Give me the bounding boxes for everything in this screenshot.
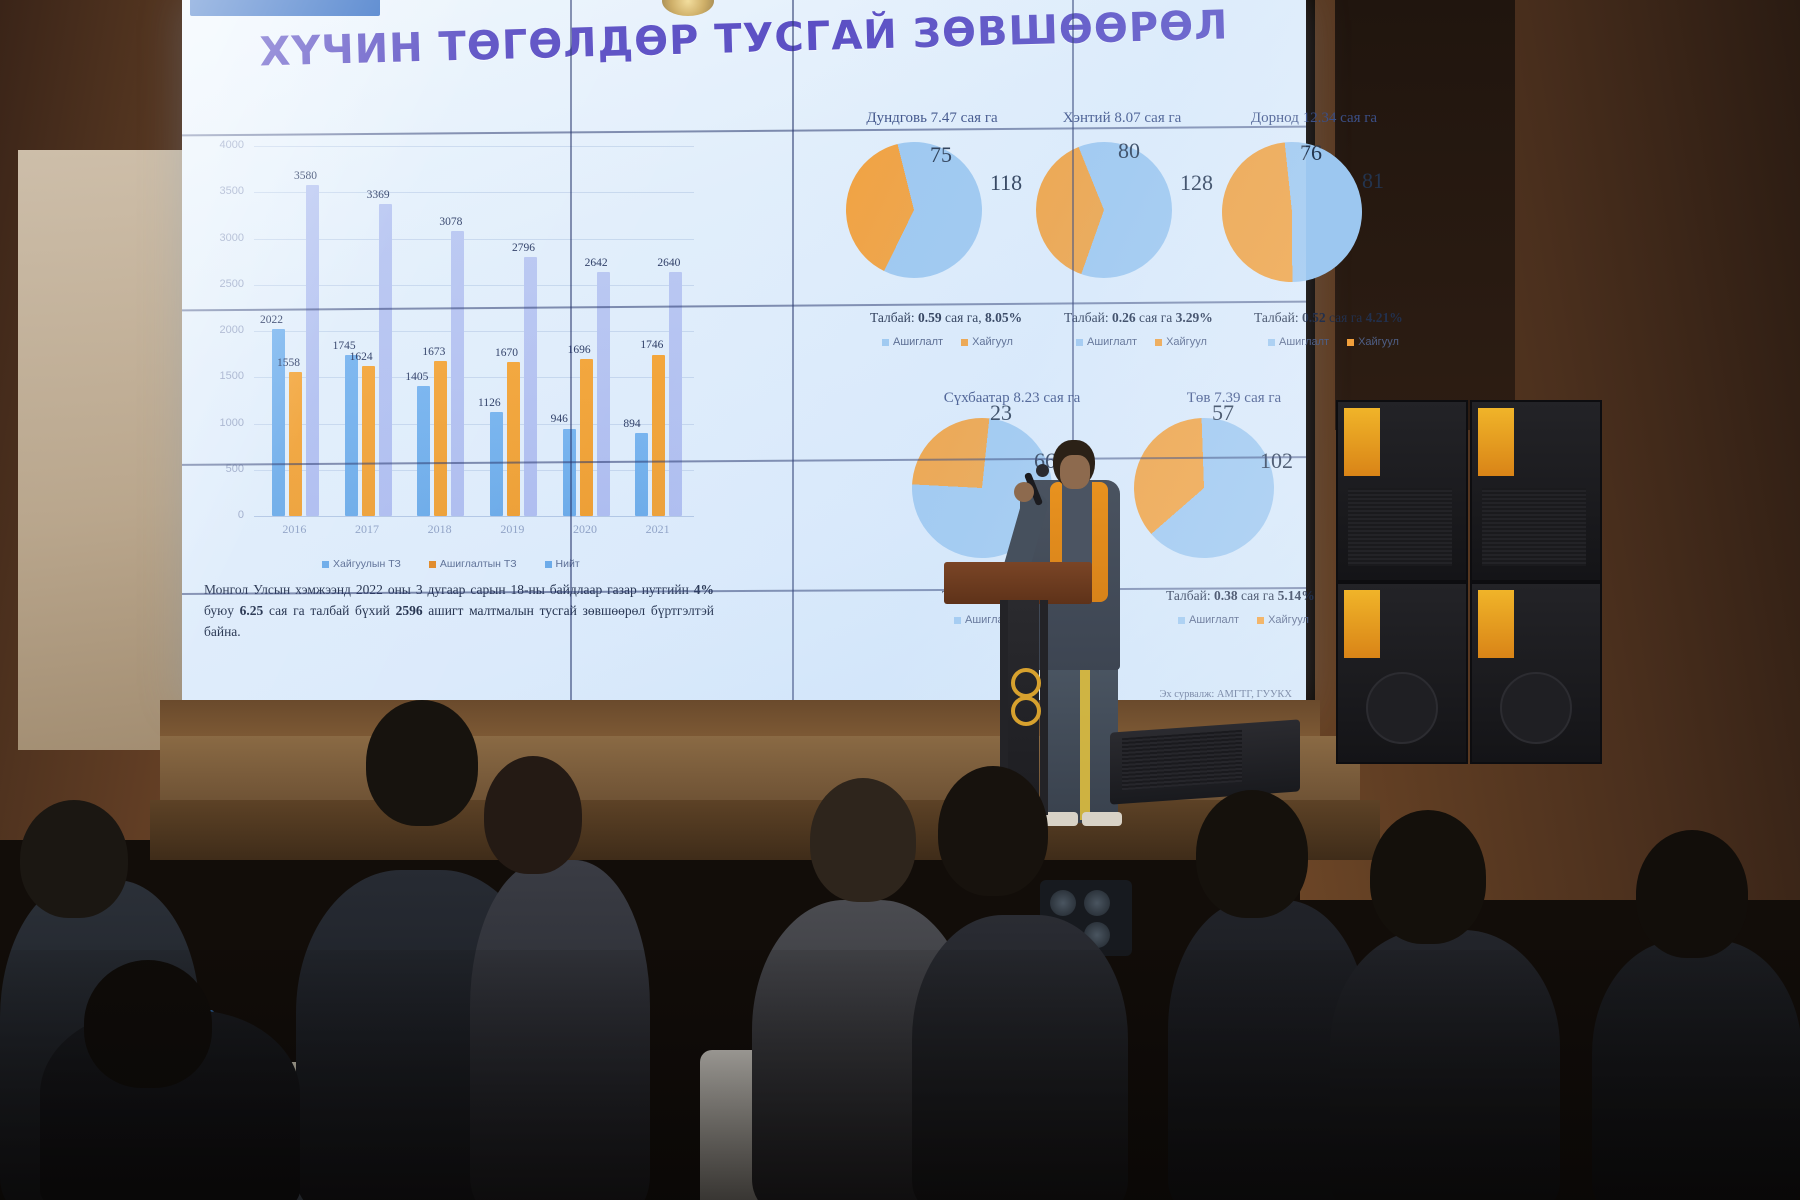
legend-label: Хайгуул [1166, 336, 1207, 348]
bar [580, 359, 593, 516]
bar-value-label: 2642 [585, 257, 608, 269]
y-axis-tick-label: 1000 [202, 417, 244, 429]
bar-value-label: 1624 [350, 351, 373, 363]
audience-head [1636, 830, 1748, 958]
legend-item[interactable]: Хайгуулын ТЗ [322, 558, 401, 570]
legend-label: Хайгуул [1358, 336, 1399, 348]
legend-item[interactable]: Хайгуул [961, 336, 1013, 348]
bar [362, 366, 375, 516]
y-axis-tick-label: 4000 [202, 139, 244, 151]
podium-ring-decor [1011, 696, 1041, 726]
y-axis-tick-label: 0 [202, 509, 244, 521]
bar [524, 257, 537, 516]
pa-speaker-driver [1366, 672, 1438, 744]
bar [507, 362, 520, 516]
bar [451, 231, 464, 516]
y-axis-tick-label: 2000 [202, 324, 244, 336]
x-axis-tick-label: 2020 [550, 522, 620, 537]
podium-leg [1040, 600, 1048, 815]
bar-value-label: 946 [551, 413, 568, 425]
legend-swatch-icon [882, 339, 889, 346]
pie-chart [1132, 416, 1277, 561]
note-part-1: Монгол Улсын хэмжээнд 2022 оны 3 дугаар … [204, 582, 694, 597]
pie-chart-title: Хэнтий 8.07 сая га [1022, 110, 1222, 127]
audience-head [366, 700, 478, 826]
bar-value-label: 3369 [367, 189, 390, 201]
pa-speaker-grille [1482, 488, 1586, 566]
bar-value-label: 1746 [640, 339, 663, 351]
y-axis-tick-label: 1500 [202, 370, 244, 382]
bar-value-label: 2796 [512, 242, 535, 254]
legend-label: Нийт [556, 558, 580, 570]
x-axis-tick-label: 2019 [477, 522, 547, 537]
pie-chart-legend: АшиглалтХайгуул [1076, 336, 1207, 348]
legend-swatch-icon [429, 561, 436, 568]
legend-label: Ашиглалт [1189, 614, 1239, 626]
bar-chart: 05001000150020002500300035004000 2022155… [202, 130, 702, 650]
x-axis-tick-label: 2017 [332, 522, 402, 537]
bar [345, 355, 358, 516]
x-axis-tick-label: 2016 [259, 522, 329, 537]
x-axis-tick-label: 2021 [623, 522, 693, 537]
bar-value-label: 3078 [439, 216, 462, 228]
bar-value-label: 1126 [478, 397, 501, 409]
bar [434, 361, 447, 516]
source-note: Эх сурвалж: АМГТГ, ГУУКХ [1159, 689, 1292, 700]
audience-head [810, 778, 916, 902]
pie-slice-value-orange: 23 [990, 400, 1012, 426]
stage-light-lens [1084, 890, 1110, 916]
legend-label: Хайгуул [1268, 614, 1309, 626]
legend-label: Ашиглалт [1279, 336, 1329, 348]
pie-area-annotation: Талбай: 0.59 сая га, 8.05% [870, 310, 1022, 326]
pie-chart-legend: АшиглалтХайгуул [1268, 336, 1399, 348]
presenter-legs [1040, 655, 1118, 823]
bar [417, 386, 430, 516]
annotation-unit: сая га [1326, 310, 1366, 325]
note-part-2: буюу [204, 603, 240, 618]
legend-label: Ашиглалт [893, 336, 943, 348]
bar [289, 372, 302, 516]
pie-chart-title: Дундговь 7.47 сая га [832, 110, 1032, 127]
bar [669, 272, 682, 516]
y-axis-tick-label: 2500 [202, 278, 244, 290]
pie-slice-value-blue: 118 [990, 170, 1022, 196]
annotation-prefix: Талбай: [870, 310, 918, 325]
pie-slice-value-orange: 80 [1118, 138, 1140, 164]
pie-area-annotation: Талбай: 0.52 сая га 4.21% [1254, 310, 1403, 326]
bar-value-label: 2640 [657, 257, 680, 269]
annotation-percent-value: 8.05% [985, 310, 1022, 325]
annotation-unit: сая га [1136, 310, 1176, 325]
photo-scene: ХҮЧИН ТӨГӨЛДӨР ТУСГАЙ ЗӨВШӨӨРӨЛ 05001000… [0, 0, 1800, 1200]
pie-area-annotation: Талбай: 0.38 сая га 5.14% [1166, 588, 1315, 604]
legend-swatch-icon [322, 561, 329, 568]
legend-label: Хайгуул [972, 336, 1013, 348]
pa-speaker-label [1344, 408, 1380, 476]
legend-item[interactable]: Нийт [545, 558, 580, 570]
bar-value-label: 1745 [333, 340, 356, 352]
bar [379, 204, 392, 516]
bar-value-label: 1405 [405, 371, 428, 383]
legend-label: Хайгуулын ТЗ [333, 558, 401, 570]
bar-value-label: 2022 [260, 314, 283, 326]
audience-head [20, 800, 128, 918]
bar [597, 272, 610, 516]
podium-ring-decor [1011, 668, 1041, 698]
bar [652, 355, 665, 517]
y-axis-tick-label: 3500 [202, 185, 244, 197]
annotation-area-value: 0.26 [1112, 310, 1136, 325]
bar-chart-legend: Хайгуулын ТЗАшиглалтын ТЗНийт [322, 558, 580, 570]
annotation-percent-value: 5.14% [1278, 588, 1315, 603]
bar [490, 412, 503, 516]
pa-speaker-grille [1348, 488, 1452, 566]
pie-chart-legend: АшиглалтХайгуул [882, 336, 1013, 348]
bar-value-label: 3580 [294, 170, 317, 182]
bar [306, 185, 319, 516]
legend-label: Ашиглалт [1087, 336, 1137, 348]
legend-swatch-icon [1155, 339, 1162, 346]
x-axis-tick-label: 2018 [405, 522, 475, 537]
presenter-shoe [1082, 812, 1122, 826]
bar-chart-baseline [254, 516, 694, 517]
legend-swatch-icon [1257, 617, 1264, 624]
legend-swatch-icon [1347, 339, 1354, 346]
legend-swatch-icon [1076, 339, 1083, 346]
annotation-percent-value: 4.21% [1366, 310, 1403, 325]
summary-note: Монгол Улсын хэмжээнд 2022 оны 3 дугаар … [204, 580, 714, 643]
left-wall-panel [18, 150, 193, 750]
stage-light-lens [1050, 890, 1076, 916]
presentation-screen: ХҮЧИН ТӨГӨЛДӨР ТУСГАЙ ЗӨВШӨӨРӨЛ 05001000… [182, 0, 1306, 706]
pie-slice-value-blue: 128 [1180, 170, 1213, 196]
pa-speaker-driver [1500, 672, 1572, 744]
pie-area-annotation: Талбай: 0.26 сая га 3.29% [1064, 310, 1213, 326]
annotation-percent-value: 3.29% [1176, 310, 1213, 325]
pie-chart-title: Дорнод 12.34 сая га [1214, 110, 1414, 127]
legend-swatch-icon [1268, 339, 1275, 346]
legend-item[interactable]: Ашиглалт [882, 336, 943, 348]
note-part-3: сая га талбай бүхий [263, 603, 395, 618]
legend-item[interactable]: Ашиглалт [1076, 336, 1137, 348]
y-axis-tick-label: 3000 [202, 232, 244, 244]
legend-item[interactable]: Ашиглалт [1178, 614, 1239, 626]
note-bold-2: 6.25 [240, 603, 264, 618]
legend-label: Ашиглалтын ТЗ [440, 558, 517, 570]
legend-item[interactable]: Хайгуул [1257, 614, 1309, 626]
screen-seam [570, 0, 572, 706]
legend-swatch-icon [961, 339, 968, 346]
annotation-area-value: 0.52 [1302, 310, 1326, 325]
pa-speaker-label [1344, 590, 1380, 658]
bar-value-label: 1673 [422, 346, 445, 358]
bar-value-label: 1670 [495, 347, 518, 359]
annotation-prefix: Талбай: [1254, 310, 1302, 325]
annotation-area-value: 0.38 [1214, 588, 1238, 603]
pie-slice-value-blue: 81 [1362, 168, 1384, 194]
audience-head [1196, 790, 1308, 918]
audience-head [484, 756, 582, 874]
legend-item[interactable]: Ашиглалт [1268, 336, 1329, 348]
legend-item[interactable]: Ашиглалтын ТЗ [429, 558, 517, 570]
pa-speaker-label [1478, 590, 1514, 658]
pa-speaker-label [1478, 408, 1514, 476]
audience-head [938, 766, 1048, 896]
legend-swatch-icon [545, 561, 552, 568]
bar-group: 174516243369 [331, 146, 404, 516]
legend-item[interactable]: Хайгуул [1155, 336, 1207, 348]
bar-group: 202215583580 [258, 146, 331, 516]
stage-monitor-grille [1122, 730, 1242, 790]
slide-logo-bar [190, 0, 380, 16]
bar [635, 433, 648, 516]
pie-chart [832, 128, 997, 293]
bar-group: 140516733078 [403, 146, 476, 516]
audience-head [1370, 810, 1486, 944]
annotation-prefix: Талбай: [1166, 588, 1214, 603]
podium-top [944, 562, 1092, 604]
pie-chart [1015, 121, 1192, 298]
presenter-face [1060, 455, 1090, 489]
microphone-head [1036, 464, 1049, 477]
annotation-unit: сая га [1238, 588, 1278, 603]
annotation-unit: сая га, [942, 310, 985, 325]
presenter-leg-stripe [1080, 660, 1090, 820]
pie-slice-value-orange: 76 [1300, 140, 1322, 166]
annotation-area-value: 0.59 [918, 310, 942, 325]
emblem-icon [662, 0, 714, 16]
foreground-shadow [0, 950, 1800, 1200]
legend-item[interactable]: Хайгуул [1347, 336, 1399, 348]
pie-slice-value-orange: 75 [930, 142, 952, 168]
legend-swatch-icon [954, 617, 961, 624]
pie-chart-title: Сүхбаатар 8.23 сая га [912, 390, 1112, 407]
pie-chart-legend: АшиглалтХайгуул [1178, 614, 1309, 626]
pie-slice-value-blue: 102 [1260, 448, 1293, 474]
presenter-hand [1014, 482, 1034, 502]
screen-seam [792, 0, 794, 706]
legend-swatch-icon [1178, 617, 1185, 624]
note-bold-3: 2596 [396, 603, 423, 618]
bar-value-label: 894 [623, 418, 640, 430]
pie-chart-title: Төв 7.39 сая га [1134, 390, 1334, 407]
slide: ХҮЧИН ТӨГӨЛДӨР ТУСГАЙ ЗӨВШӨӨРӨЛ 05001000… [182, 0, 1306, 706]
bar-value-label: 1558 [277, 357, 300, 369]
pie-slice-value-orange: 57 [1212, 400, 1234, 426]
